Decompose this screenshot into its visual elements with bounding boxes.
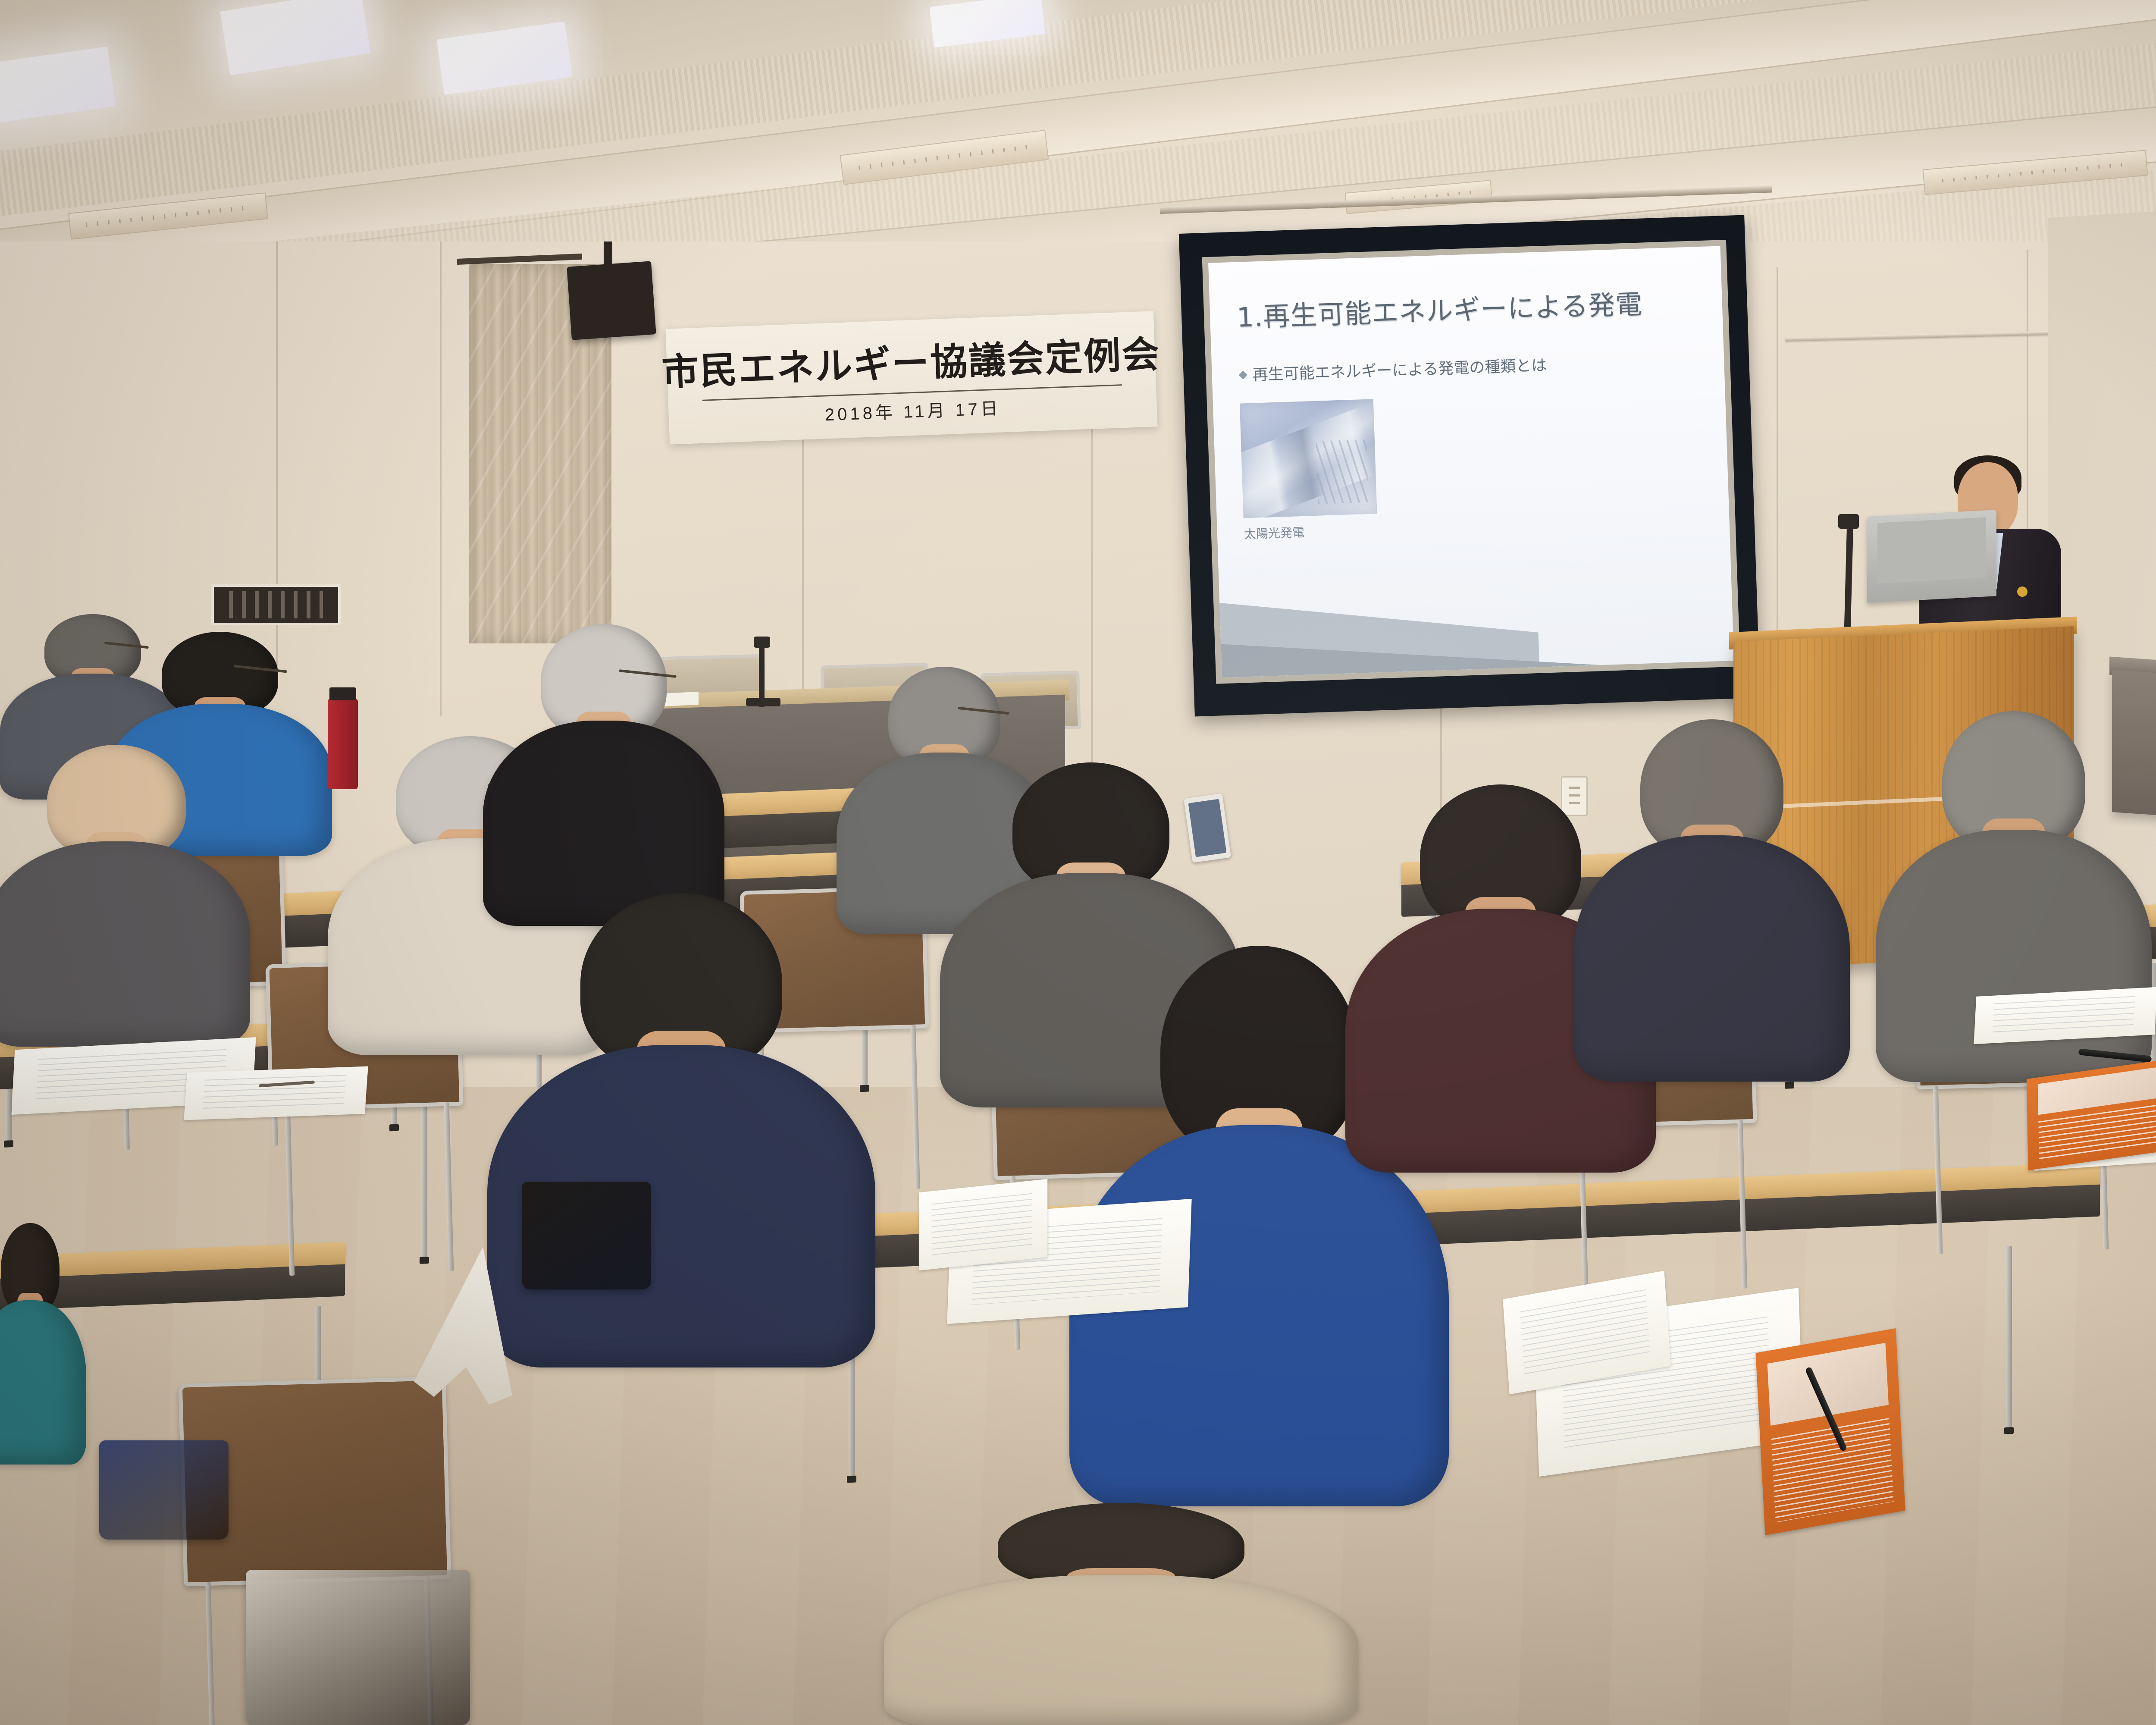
ceiling-light-panel-2 [0,47,116,124]
attendee-blue-sweater-torso [1069,1125,1449,1506]
presentation-slide: 1.再生可能エネルギーによる発電 ◆ 再生可能エネルギーによる発電の種類とは 太… [1208,246,1734,677]
handout-center-2-text-lines [932,1193,1032,1257]
banner-date: 2018年 11月 17日 [824,394,1001,426]
table-front-wide-foot-1 [2004,1427,2014,1434]
wall-control-panel[interactable] [211,584,341,625]
conference-room-photo: 市民エネルギー協議会定例会 2018年 11月 17日 1.再生可能エネルギーに… [0,0,2156,1725]
attendee-gray-blazer-right-torso [1876,830,2152,1082]
handout-far-right [1974,987,2156,1044]
table-front-wide-leg-1 [2006,1246,2012,1427]
attendee-dark-navy-back [1574,716,1850,1078]
handout-front-r2-text-lines [1520,1289,1650,1377]
brochure-orange-front [1755,1328,1905,1535]
handout-left-2-text-lines [202,1075,346,1112]
attendee-beige-front-right-torso [884,1575,1358,1725]
table-row1-left-foot-1 [389,1124,399,1132]
attendee-beige-front-right [884,1501,1358,1725]
screen-mat: 1.再生可能エネルギーによる発電 ◆ 再生可能エネルギーによる発電の種類とは 太… [1202,240,1740,684]
attendee-bald-gray-jacket-torso [0,841,250,1047]
banner-title: 市民エネルギー協議会定例会 [661,324,1161,396]
brochure-blue-right [2027,1059,2156,1170]
attendee-navy-puffer [487,888,875,1363]
bag-blue-floor [99,1440,229,1540]
presenter-lapel-badge [2017,586,2028,597]
bag-black-under [522,1182,651,1289]
bag-floral-tote [246,1570,470,1725]
ceiling-speaker [567,261,656,340]
thermos-red [328,699,358,789]
handout-far-right-text-lines [1992,996,2135,1035]
slide-bullet-row: ◆ 再生可能エネルギーによる発電の種類とは [1238,348,1701,386]
attendee-teal-edge-left [0,1220,86,1462]
table-row1-left-foot-0 [4,1140,13,1148]
event-banner: 市民エネルギー協議会定例会 2018年 11月 17日 [665,311,1157,444]
projection-screen: 1.再生可能エネルギーによる発電 ◆ 再生可能エネルギーによる発電の種類とは 太… [1179,215,1760,717]
attendee-dark-navy-back-torso [1574,835,1850,1082]
attendee-black-jacket-mask [483,621,724,923]
handout-left-2 [184,1066,368,1120]
thermos-red-cap [329,687,356,700]
attendee-teal-edge-left-torso [0,1300,86,1465]
brochure-blue-right-cover-text [2039,1104,2156,1163]
ceiling-light-panel-0 [220,0,370,75]
brochure-orange-front-cover-text [1771,1418,1893,1522]
ceiling [0,0,2156,276]
handout-center-2 [919,1179,1047,1270]
table-row3-right-foot-1 [1785,1082,1794,1089]
head-table-mic-base [746,698,780,706]
slide-solar-panel-photo [1240,399,1377,518]
attendee-bald-gray-jacket [0,742,250,1044]
table-row2-left-foot-1 [420,1257,429,1264]
bullet-diamond-icon: ◆ [1238,367,1247,381]
presenter-laptop[interactable] [1867,510,1996,603]
table-front-wide-foot-0 [847,1475,856,1483]
slide-title: 1.再生可能エネルギーによる発電 [1236,280,1699,334]
slide-bullet-text: 再生可能エネルギーによる発電の種類とは [1252,353,1547,385]
